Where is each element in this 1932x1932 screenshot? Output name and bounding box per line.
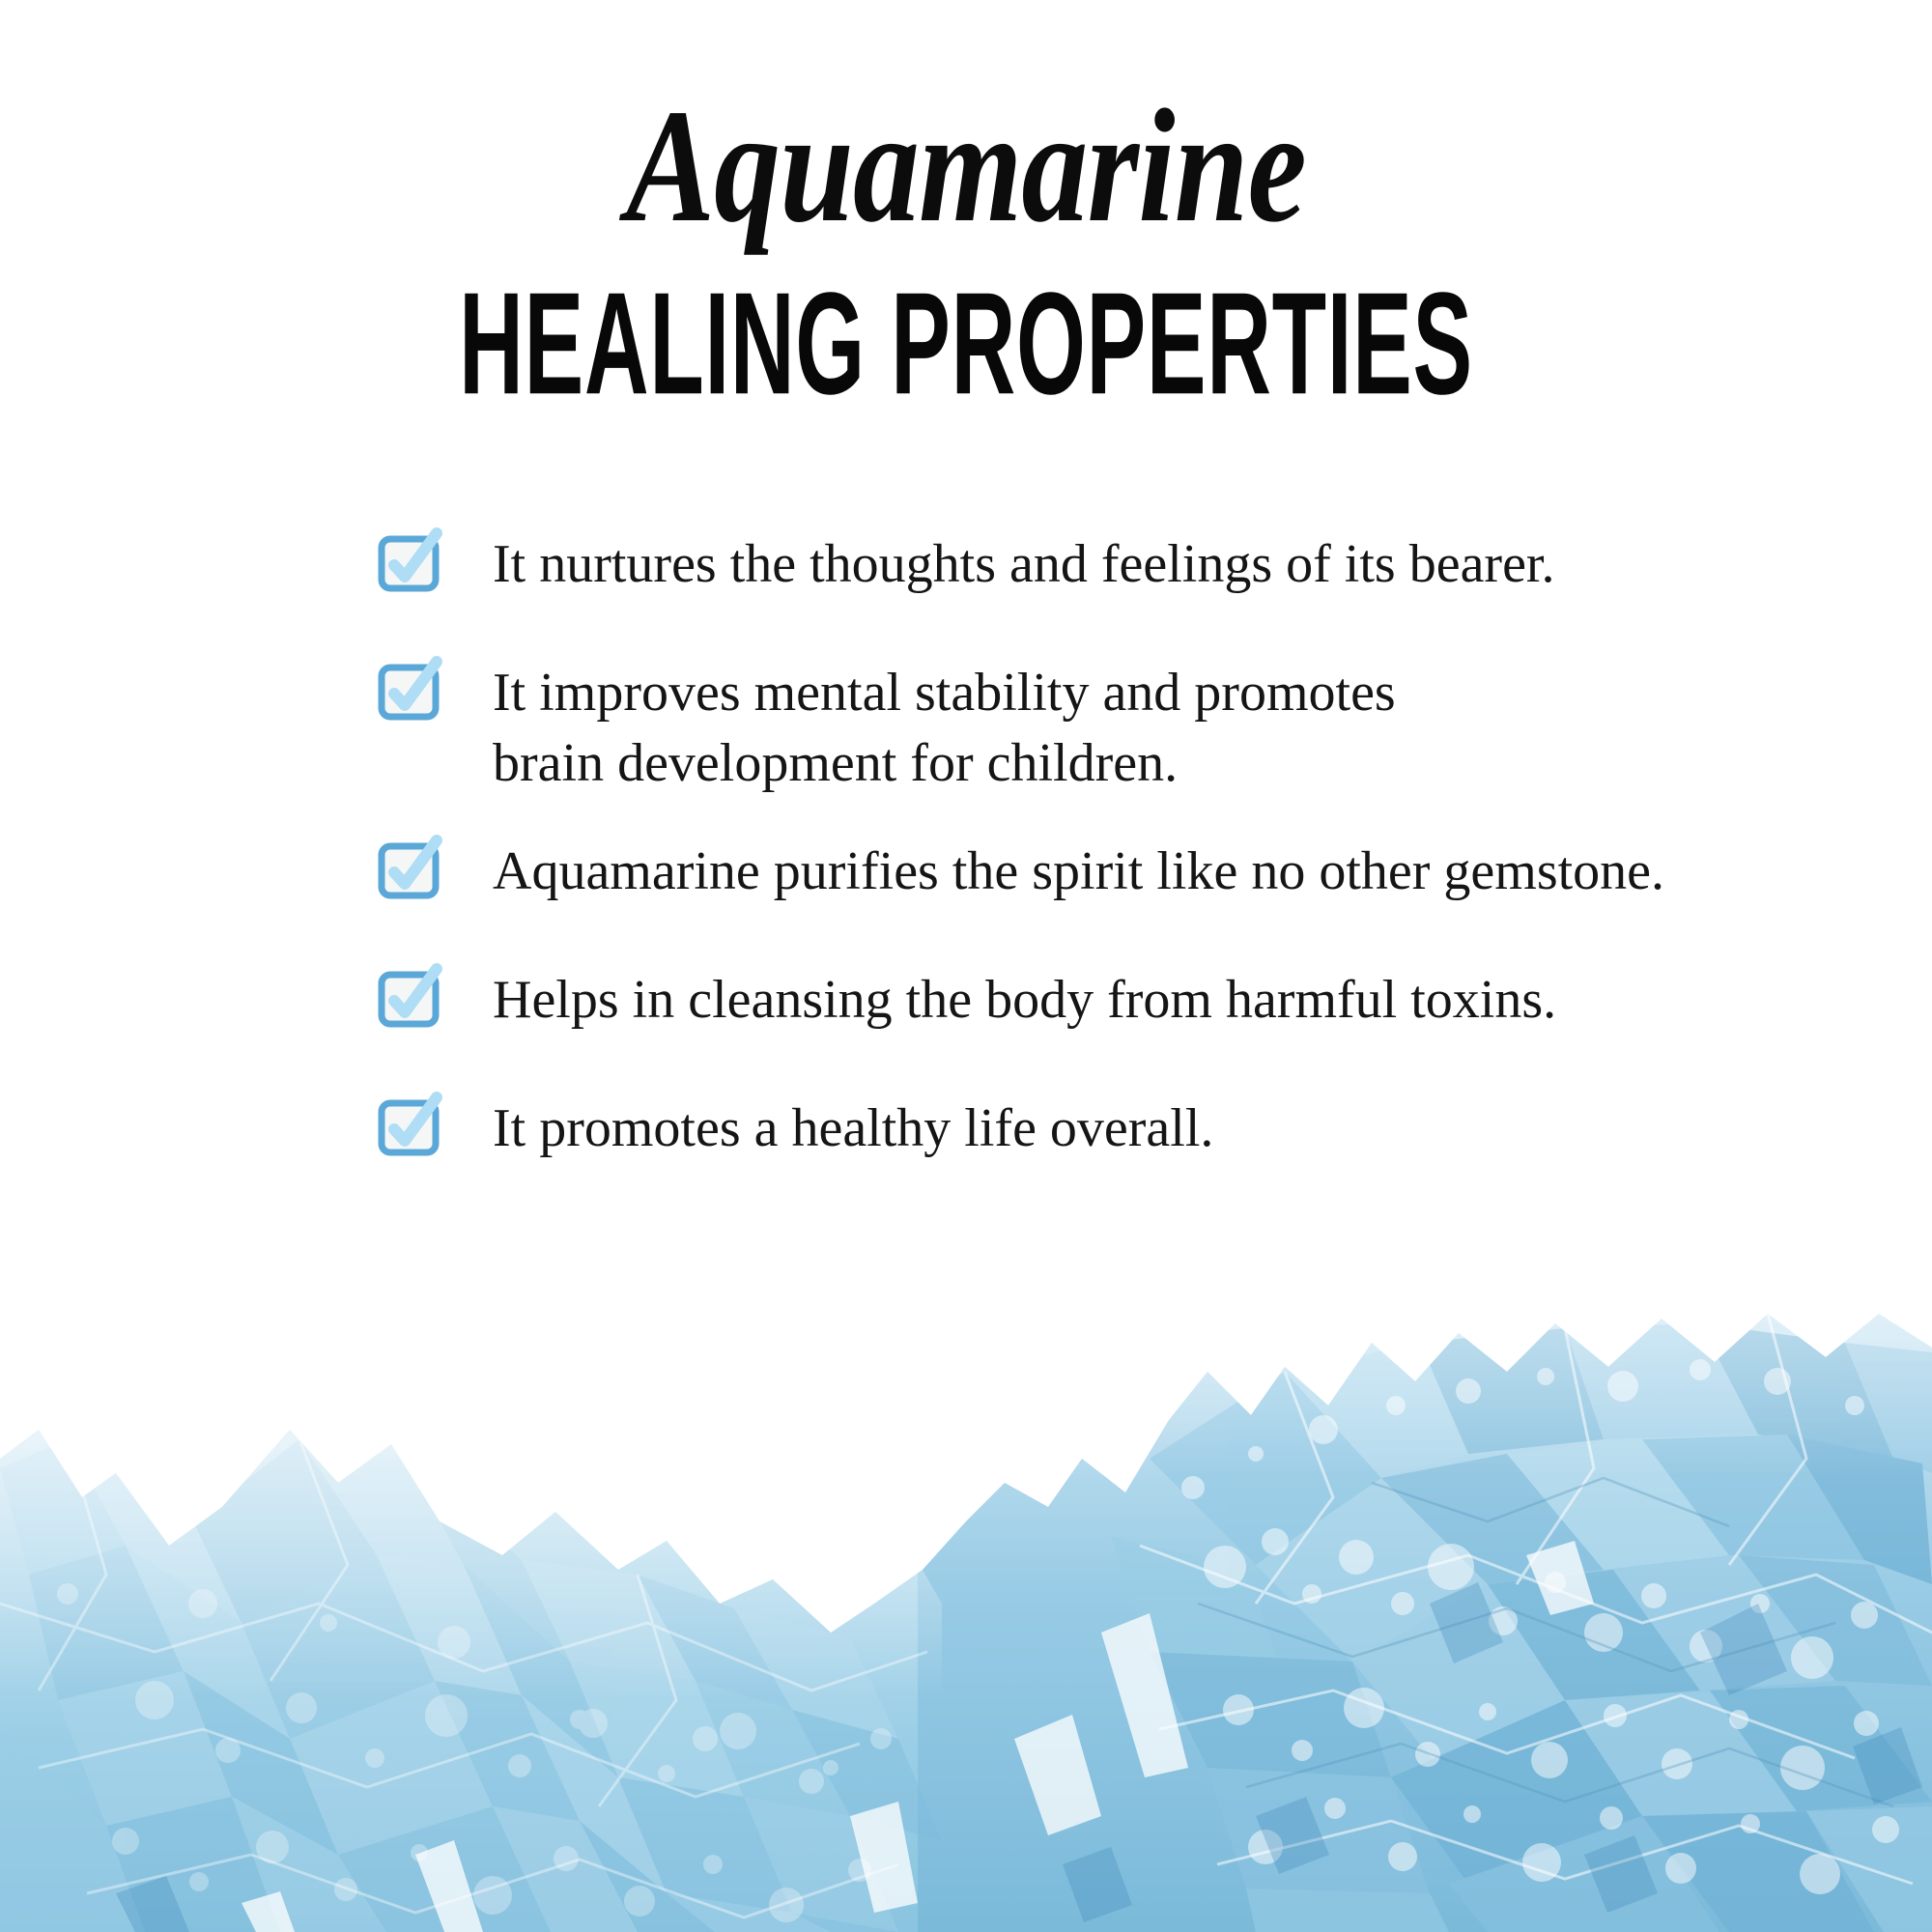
list-item-label: Helps in cleansing the body from harmful… [493,970,1556,1030]
heading-block: Aquamarine HEALING PROPERTIES [0,85,1932,408]
page-subtitle: HEALING PROPERTIES [290,271,1642,416]
list-item: It nurtures the thoughts and feelings of… [379,529,1847,600]
list-item-label: Aquamarine purifies the spirit like no o… [493,841,1664,901]
list-item-label: It improves mental stability and promote… [493,663,1396,793]
checked-checkbox-icon [379,535,439,591]
list-item: Helps in cleansing the body from harmful… [379,965,1847,1036]
list-item-label: It promotes a healthy life overall. [493,1098,1213,1158]
checked-checkbox-icon [379,1099,439,1155]
list-item: Aquamarine purifies the spirit like no o… [379,837,1847,907]
list-item: It promotes a healthy life overall. [379,1094,1847,1164]
page-title: Aquamarine [174,85,1758,247]
checked-checkbox-icon [379,664,439,720]
poster-canvas: Aquamarine HEALING PROPERTIES It nurture… [0,0,1932,1932]
checked-checkbox-icon [379,842,439,898]
checked-checkbox-icon [379,971,439,1027]
ice-cubes-photo [0,1314,1932,1932]
healing-properties-list: It nurtures the thoughts and feelings of… [379,529,1847,1222]
list-item: It improves mental stability and promote… [379,658,1847,799]
list-item-label: It nurtures the thoughts and feelings of… [493,534,1555,594]
